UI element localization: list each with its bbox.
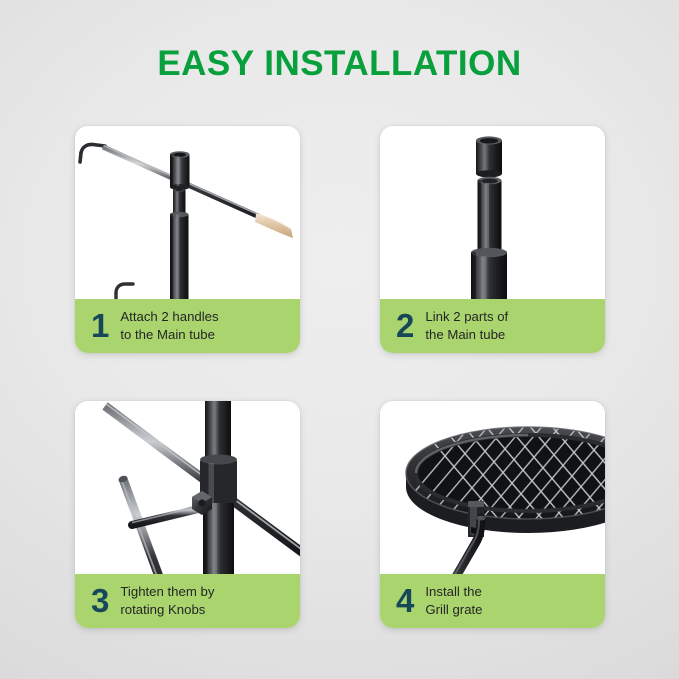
handle-collar — [170, 151, 190, 190]
steps-grid: 1 Attach 2 handles to the Main tube — [75, 126, 605, 628]
step-number-4: 4 — [396, 584, 414, 619]
infographic-page: EASY INSTALLATION — [0, 0, 679, 679]
step-caption-2: 2 Link 2 parts of the Main tube — [380, 299, 605, 353]
step-text-2: Link 2 parts of the Main tube — [425, 308, 508, 343]
step-number-1: 1 — [91, 309, 109, 344]
middle-tube-section — [478, 177, 502, 254]
step-text-1: Attach 2 handles to the Main tube — [120, 308, 218, 343]
step-text-4: Install the Grill grate — [425, 583, 482, 618]
step-number-3: 3 — [91, 584, 109, 619]
step-card-2: 2 Link 2 parts of the Main tube — [380, 126, 605, 353]
step-card-3: 3 Tighten them by rotating Knobs — [75, 401, 300, 628]
step-caption-3: 3 Tighten them by rotating Knobs — [75, 574, 300, 628]
upper-tube-section — [476, 136, 502, 177]
page-title: EASY INSTALLATION — [0, 44, 679, 84]
step-number-2: 2 — [396, 309, 414, 344]
step-text-3: Tighten them by rotating Knobs — [120, 583, 214, 618]
step-card-1: 1 Attach 2 handles to the Main tube — [75, 126, 300, 353]
step-caption-4: 4 Install the Grill grate — [380, 574, 605, 628]
step-caption-1: 1 Attach 2 handles to the Main tube — [75, 299, 300, 353]
step-card-4: 4 Install the Grill grate — [380, 401, 605, 628]
